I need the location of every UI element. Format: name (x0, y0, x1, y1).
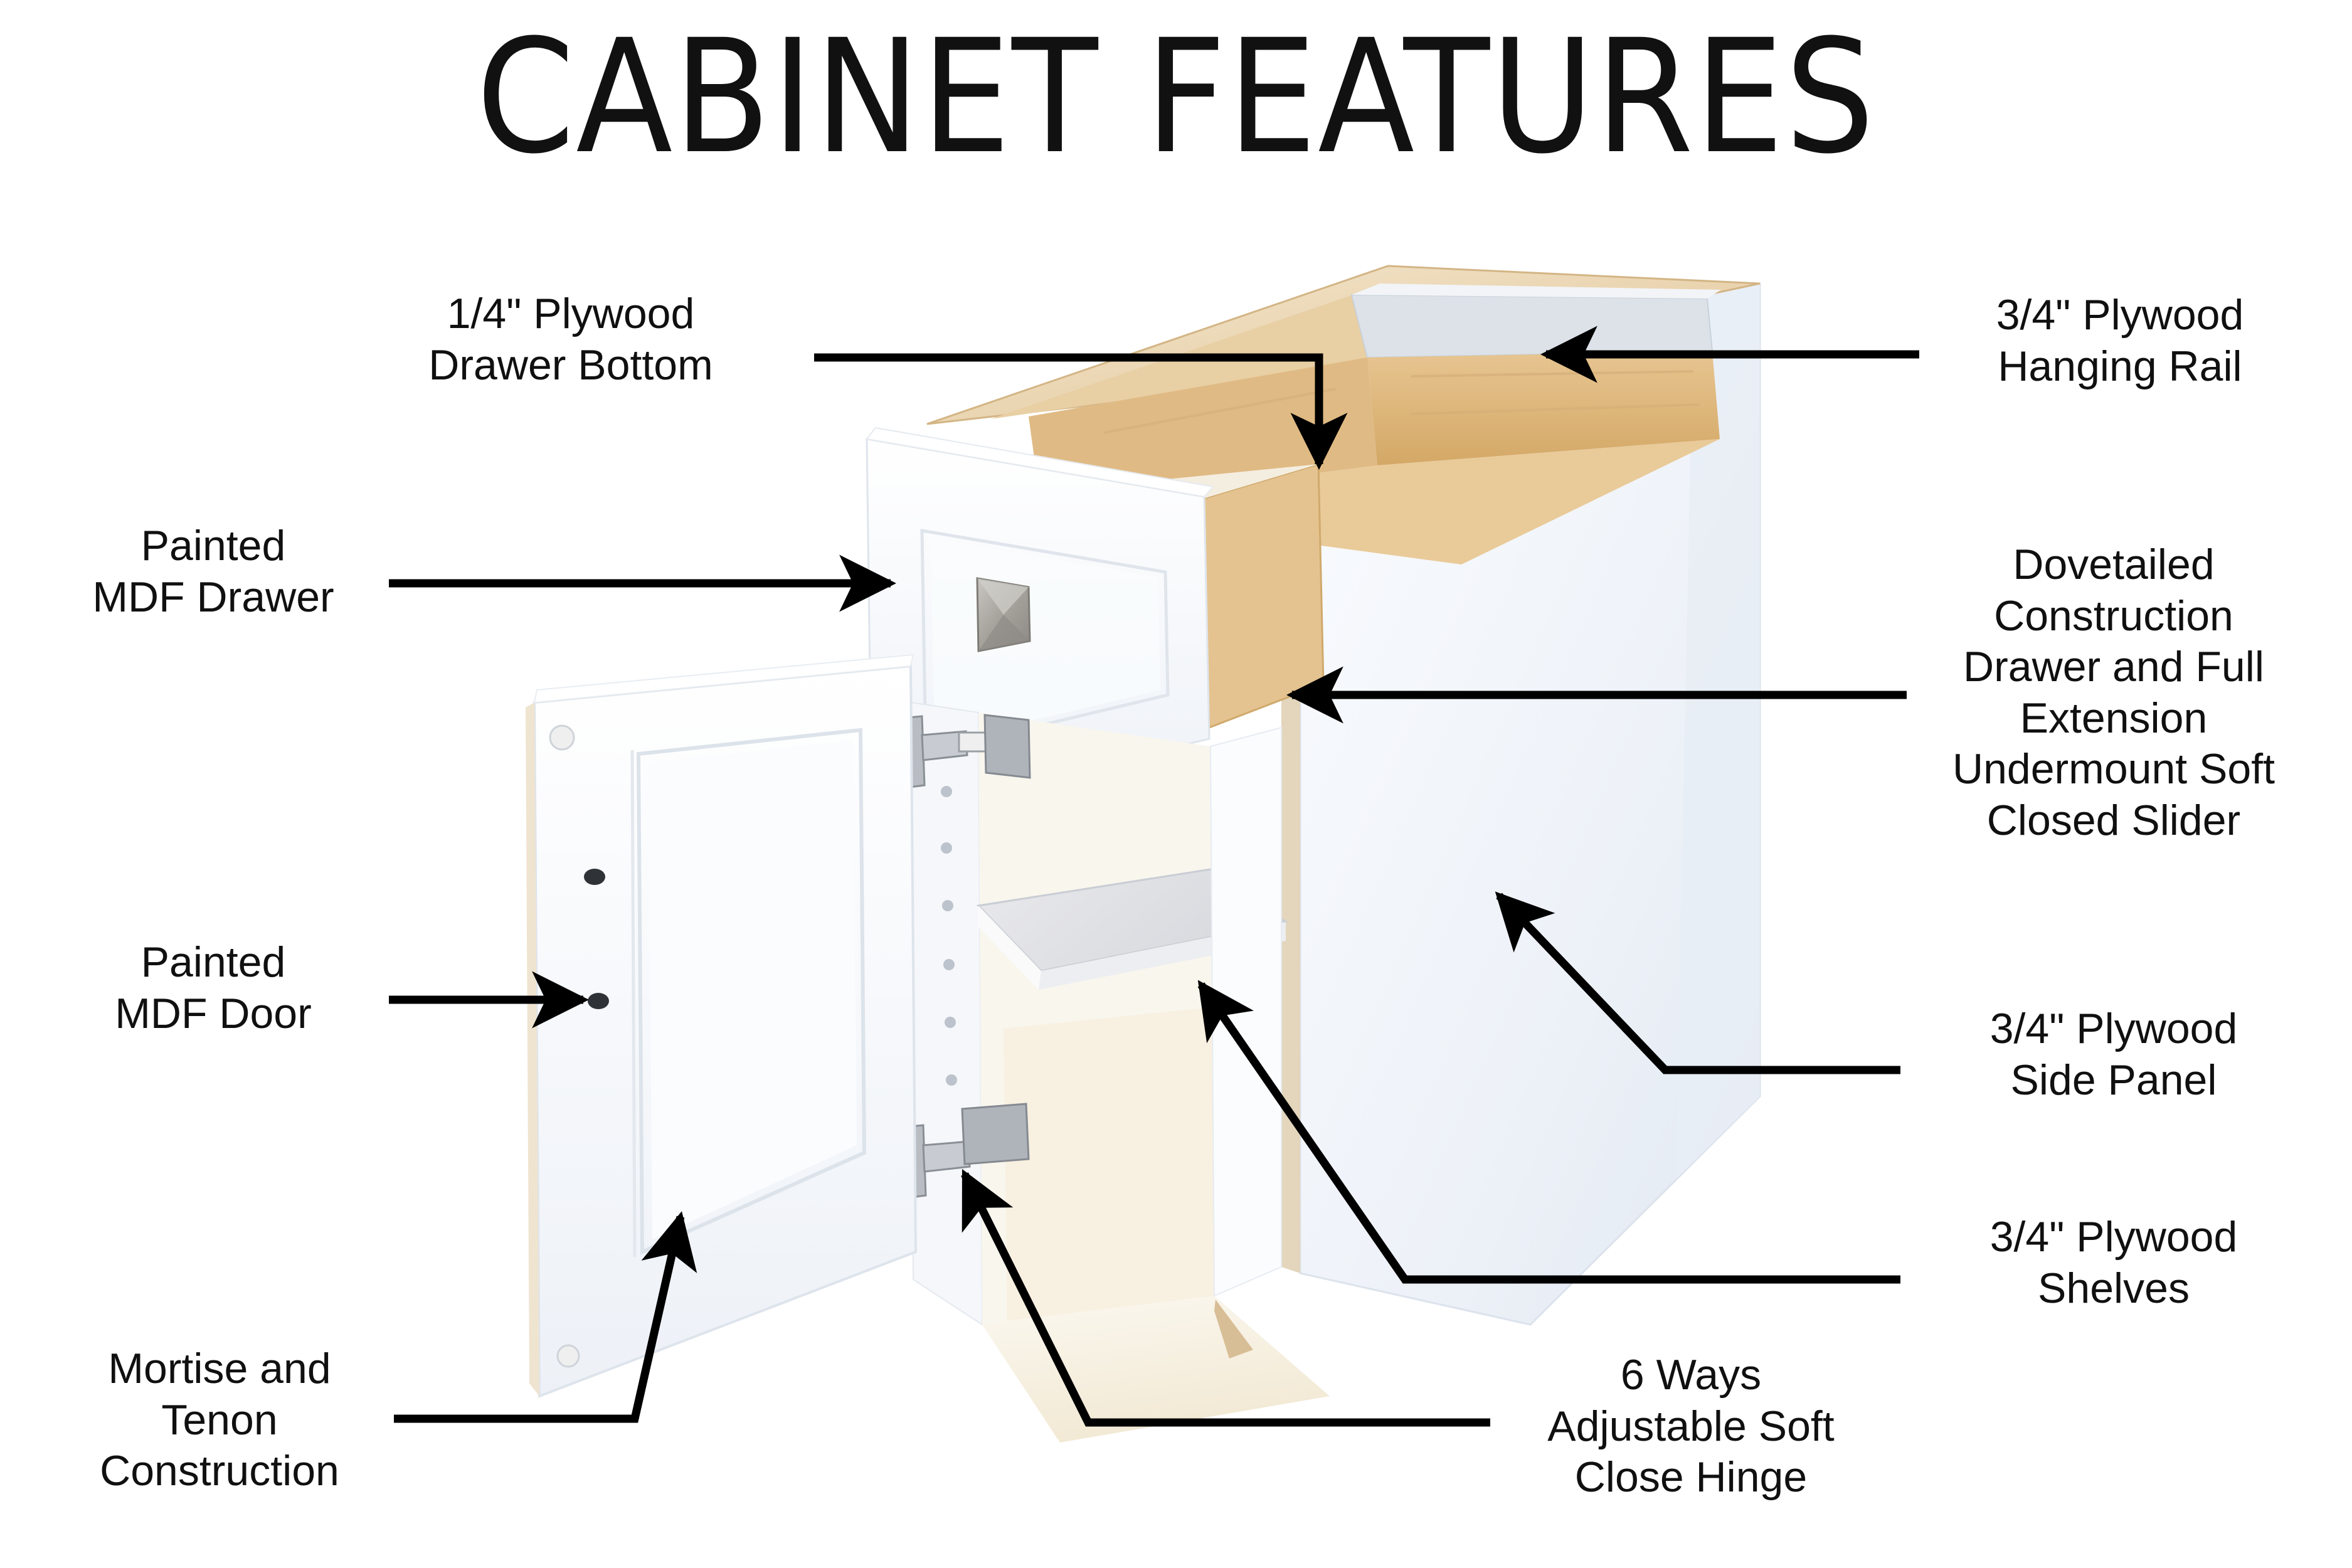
label-mortise-tenon: Mortise and Tenon Construction (38, 1343, 401, 1497)
drawer-knob[interactable] (977, 578, 1030, 651)
interior-warm-shade (1004, 1007, 1214, 1321)
label-painted-door: Painted MDF Door (38, 937, 389, 1039)
label-shelves: 3/4" Plywood Shelves (1907, 1212, 2321, 1314)
drawer-box-side (1201, 464, 1323, 728)
label-painted-drawer: Painted MDF Drawer (38, 521, 389, 623)
label-side-panel: 3/4" Plywood Side Panel (1907, 1004, 2321, 1106)
hanging-rail (1352, 295, 1712, 358)
door[interactable] (526, 655, 916, 1396)
label-hinge: 6 Ways Adjustable Soft Close Hinge (1490, 1350, 1892, 1503)
label-drawer-bottom: 1/4" Plywood Drawer Bottom (351, 289, 790, 391)
poster-canvas: CABINET FEATURES (0, 0, 2352, 1568)
label-hanging-rail: 3/4" Plywood Hanging Rail (1926, 290, 2314, 392)
label-dovetailed: Dovetailed Construction Drawer and Full … (1900, 539, 2327, 847)
